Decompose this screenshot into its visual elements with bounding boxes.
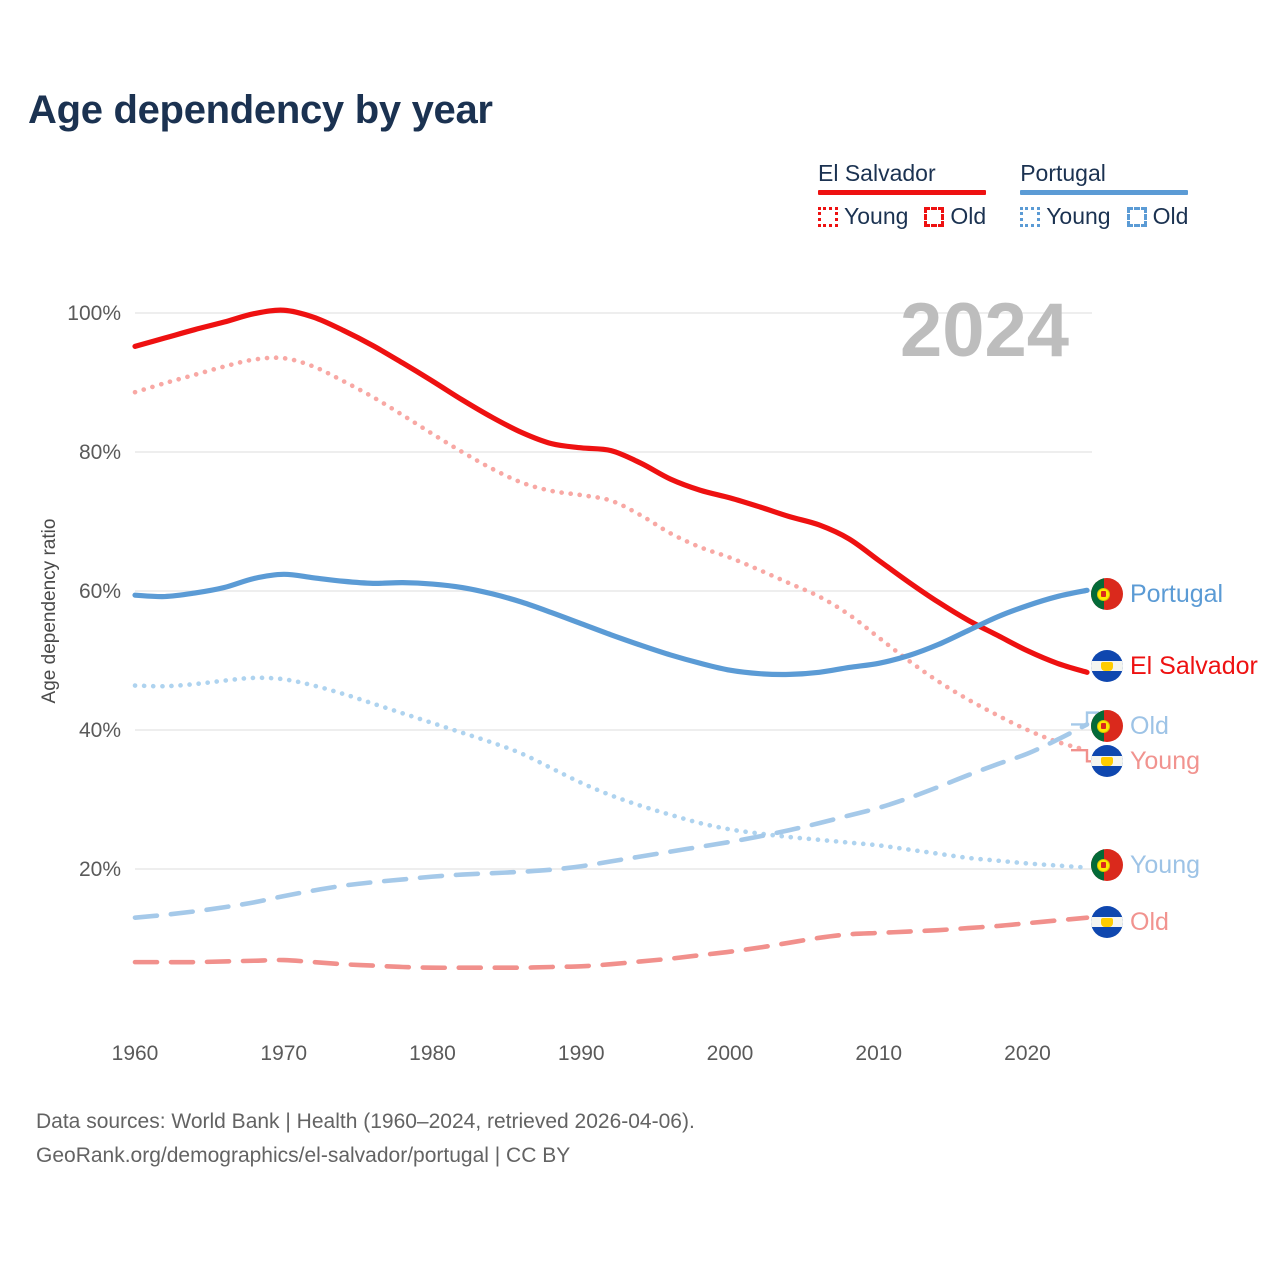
legend-item-el-salvador-old[interactable]: Old: [924, 203, 986, 230]
y-axis-title: Age dependency ratio: [39, 501, 61, 721]
end-label-portugal[interactable]: Portugal: [1091, 578, 1223, 610]
y-tick-label: 80%: [79, 441, 121, 464]
series-line-el-salvador-young: [135, 358, 1087, 750]
end-label-young[interactable]: Young: [1091, 745, 1200, 777]
end-label-el-salvador[interactable]: El Salvador: [1091, 650, 1258, 682]
portugal-flag-icon: [1091, 849, 1123, 881]
end-label-old[interactable]: Old: [1091, 906, 1169, 938]
flag-emblem: [1097, 859, 1110, 872]
end-label-old[interactable]: Old: [1091, 710, 1169, 742]
el-salvador-flag-icon: [1091, 745, 1123, 777]
dotted-swatch-icon: [1020, 207, 1040, 227]
end-label-text: Portugal: [1130, 580, 1223, 609]
x-tick-label: 1960: [112, 1042, 159, 1065]
y-tick-label: 60%: [79, 580, 121, 603]
x-tick-label: 1980: [409, 1042, 456, 1065]
flag-emblem: [1101, 757, 1113, 766]
flag-emblem-shield: [1101, 591, 1106, 597]
legend-item-portugal-old[interactable]: Old: [1127, 203, 1189, 230]
flag-emblem: [1101, 662, 1113, 671]
year-watermark: 2024: [900, 287, 1069, 374]
legend-items-portugal: Young Old: [1020, 203, 1188, 230]
series-line-portugal-old: [135, 724, 1087, 917]
page-title: Age dependency by year: [28, 88, 493, 133]
x-tick-label: 2000: [707, 1042, 754, 1065]
y-tick-label: 40%: [79, 719, 121, 742]
y-tick-label: 100%: [67, 302, 121, 325]
flag-emblem: [1101, 918, 1113, 927]
dotted-swatch-icon: [818, 207, 838, 227]
legend-item-portugal-young[interactable]: Young: [1020, 203, 1110, 230]
footer-line-license[interactable]: GeoRank.org/demographics/el-salvador/por…: [36, 1139, 695, 1173]
legend-label-young: Young: [844, 203, 908, 230]
flag-emblem-shield: [1101, 723, 1106, 729]
legend-label-old: Old: [950, 203, 986, 230]
footer-line-sources: Data sources: World Bank | Health (1960–…: [36, 1105, 695, 1139]
portugal-flag-icon: [1091, 710, 1123, 742]
end-label-text: Young: [1130, 747, 1200, 776]
legend-country-el-salvador[interactable]: El Salvador: [818, 160, 936, 190]
legend-rule-el-salvador: [818, 190, 986, 195]
footer-attribution: Data sources: World Bank | Health (1960–…: [36, 1105, 695, 1173]
end-label-text: Old: [1130, 712, 1169, 741]
end-label-text: El Salvador: [1130, 652, 1258, 681]
x-tick-label: 2010: [855, 1042, 902, 1065]
dashed-swatch-icon: [1127, 207, 1147, 227]
legend-item-el-salvador-young[interactable]: Young: [818, 203, 908, 230]
x-tick-label: 1990: [558, 1042, 605, 1065]
x-tick-label: 2020: [1004, 1042, 1051, 1065]
legend-group-portugal: Portugal Young Old: [1020, 160, 1188, 230]
portugal-flag-icon: [1091, 578, 1123, 610]
flag-emblem-shield: [1101, 862, 1106, 868]
chart-page: Age dependency by year El Salvador Young…: [0, 0, 1280, 1280]
end-label-young[interactable]: Young: [1091, 849, 1200, 881]
flag-emblem: [1097, 720, 1110, 733]
legend-label-old: Old: [1153, 203, 1189, 230]
el-salvador-flag-icon: [1091, 906, 1123, 938]
x-tick-label: 1970: [260, 1042, 307, 1065]
legend-group-el-salvador: El Salvador Young Old: [818, 160, 986, 230]
series-line-portugal: [135, 574, 1087, 674]
flag-emblem: [1097, 588, 1110, 601]
el-salvador-flag-icon: [1091, 650, 1123, 682]
y-tick-label: 20%: [79, 858, 121, 881]
dashed-swatch-icon: [924, 207, 944, 227]
legend-country-portugal[interactable]: Portugal: [1020, 160, 1106, 190]
end-label-text: Young: [1130, 851, 1200, 880]
series-line-el-salvador-old: [135, 918, 1087, 968]
legend-items-el-salvador: Young Old: [818, 203, 986, 230]
end-label-text: Old: [1130, 908, 1169, 937]
legend-rule-portugal: [1020, 190, 1188, 195]
legend-label-young: Young: [1046, 203, 1110, 230]
series-line-portugal-young: [135, 678, 1087, 868]
chart-legend: El Salvador Young Old Portugal Young: [818, 160, 1258, 230]
